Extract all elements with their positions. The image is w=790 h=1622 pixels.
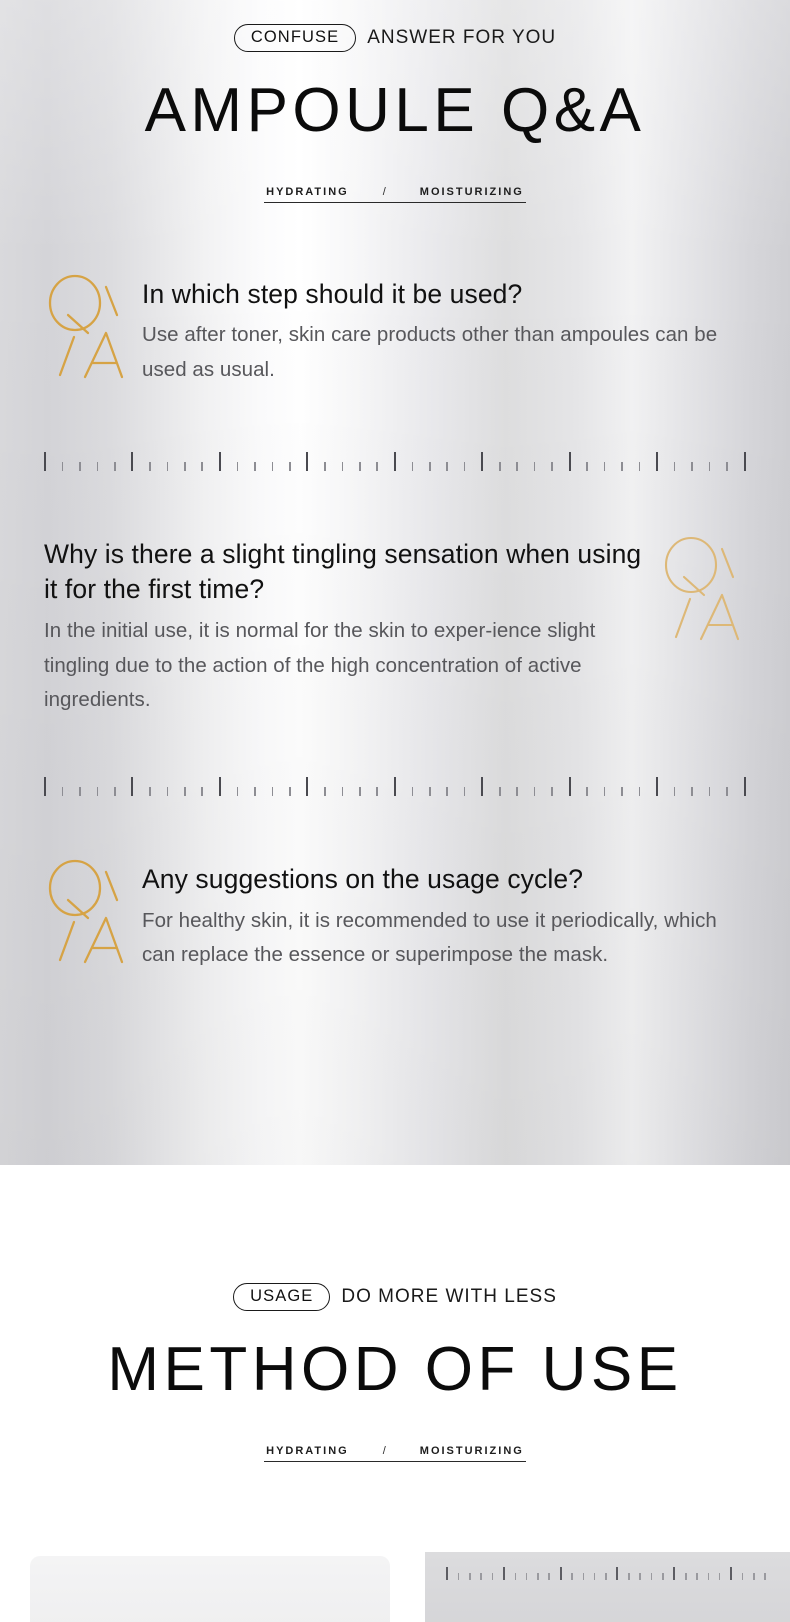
- qa-item-2: Why is there a slight tingling sensation…: [0, 533, 790, 717]
- ruler-tick: [149, 462, 151, 471]
- ruler-tick-major: [503, 1567, 505, 1580]
- ruler-tick: [79, 462, 81, 471]
- ruler-tick: [289, 787, 291, 796]
- ruler-tick-major: [131, 777, 133, 796]
- method-eyebrow-badge: USAGE: [233, 1283, 330, 1311]
- ruler-tick: [604, 462, 606, 471]
- ruler-tick: [709, 787, 711, 796]
- ruler-tick: [464, 462, 466, 471]
- ruler-tick: [639, 462, 641, 471]
- ruler-tick: [548, 1573, 550, 1580]
- ruler-tick-major: [656, 452, 658, 471]
- ruler-tick: [412, 787, 414, 796]
- ruler-tick: [753, 1573, 755, 1580]
- ruler-tick: [551, 787, 553, 796]
- ruler-tick-major: [394, 452, 396, 471]
- ruler-tick: [359, 787, 361, 796]
- ruler-tick: [167, 462, 169, 471]
- ruler-tick: [605, 1573, 607, 1580]
- ruler-tick-major: [569, 777, 571, 796]
- ruler-tick-major: [306, 452, 308, 471]
- method-eyebrow-text: DO MORE WITH LESS: [341, 1286, 556, 1308]
- ruler-tick: [594, 1573, 596, 1580]
- ruler-tick: [458, 1573, 460, 1580]
- ruler-tick: [480, 1573, 482, 1580]
- qa-page-title: AMPOULE Q&A: [0, 80, 790, 142]
- ampoule-qa-section: CONFUSE ANSWER FOR YOU AMPOULE Q&A HYDRA…: [0, 0, 790, 1165]
- ruler-tick: [685, 1573, 687, 1580]
- ruler-tick-major: [560, 1567, 562, 1580]
- ruler-tick-major: [44, 452, 46, 471]
- ruler-tick: [254, 787, 256, 796]
- ruler-tick: [651, 1573, 653, 1580]
- ruler-tick: [254, 462, 256, 471]
- ruler-tick: [499, 462, 501, 471]
- ruler-tick-major: [730, 1567, 732, 1580]
- ruler-tick: [628, 1573, 630, 1580]
- ruler-tick: [709, 462, 711, 471]
- ruler-tick: [324, 462, 326, 471]
- qa-question-2: Why is there a slight tingling sensation…: [44, 537, 654, 607]
- ruler-tick-major: [219, 777, 221, 796]
- ruler-tick-major: [394, 777, 396, 796]
- qa-answer-3: For healthy skin, it is recommended to u…: [142, 904, 746, 973]
- method-of-use-section: USAGE DO MORE WITH LESS METHOD OF USE HY…: [0, 1165, 790, 1622]
- ruler-divider-2: [0, 770, 790, 796]
- ruler-tick: [639, 787, 641, 796]
- ruler-tick: [97, 787, 99, 796]
- qa-method-page: CONFUSE ANSWER FOR YOU AMPOULE Q&A HYDRA…: [0, 0, 790, 1622]
- product-image-strip: [0, 1542, 790, 1622]
- qa-eyebrow-badge: CONFUSE: [234, 24, 356, 52]
- ruler-tick: [621, 462, 623, 471]
- ruler-tick-major: [131, 452, 133, 471]
- ruler-tick: [272, 787, 274, 796]
- qa-monogram-icon: [44, 271, 130, 383]
- method-subtitle: HYDRATING / MOISTURIZING: [0, 1445, 790, 1462]
- ruler-tick: [515, 1573, 517, 1580]
- ruler-tick-major: [44, 777, 46, 796]
- ruler-tick: [586, 462, 588, 471]
- ruler-tick: [586, 787, 588, 796]
- ruler-tick: [359, 462, 361, 471]
- qa-subtitle: HYDRATING / MOISTURIZING: [0, 186, 790, 203]
- ruler-tick: [534, 787, 536, 796]
- product-ruler-ticks: [446, 1564, 766, 1580]
- ruler-tick-major: [481, 452, 483, 471]
- qa-answer-2: In the initial use, it is normal for the…: [44, 614, 654, 717]
- qa-answer-1: Use after toner, skin care products othe…: [142, 318, 746, 387]
- ruler-tick: [674, 787, 676, 796]
- ruler-tick: [114, 462, 116, 471]
- ruler-tick: [708, 1573, 710, 1580]
- ruler-tick: [201, 462, 203, 471]
- ruler-tick: [516, 462, 518, 471]
- ruler-tick: [696, 1573, 698, 1580]
- ruler-tick: [691, 462, 693, 471]
- ruler-tick: [726, 462, 728, 471]
- ruler-tick: [446, 462, 448, 471]
- ruler-tick: [764, 1573, 766, 1580]
- ruler-divider-1: [0, 445, 790, 471]
- qa-item-1: In which step should it be used? Use aft…: [0, 271, 790, 388]
- ruler-tick: [492, 1573, 494, 1580]
- ruler-tick: [604, 787, 606, 796]
- qa-item-3: Any suggestions on the usage cycle? For …: [0, 856, 790, 973]
- product-photo-left: [30, 1556, 390, 1622]
- ruler-tick: [114, 787, 116, 796]
- ruler-tick: [342, 462, 344, 471]
- qa-question-1: In which step should it be used?: [142, 277, 746, 312]
- ruler-tick-major: [744, 777, 746, 796]
- ruler-tick: [184, 787, 186, 796]
- qa-subtitle-right: MOISTURIZING: [420, 186, 524, 198]
- ruler-tick-major: [446, 1567, 448, 1580]
- ruler-tick: [79, 787, 81, 796]
- qa-eyebrow-text: ANSWER FOR YOU: [367, 27, 556, 49]
- ruler-tick-major: [616, 1567, 618, 1580]
- ruler-tick: [691, 787, 693, 796]
- qa-eyebrow: CONFUSE ANSWER FOR YOU: [0, 24, 790, 52]
- ruler-tick: [184, 462, 186, 471]
- ruler-tick: [149, 787, 151, 796]
- ruler-tick: [237, 462, 239, 471]
- ruler-tick-major: [656, 777, 658, 796]
- ruler-tick: [412, 462, 414, 471]
- ruler-tick: [464, 787, 466, 796]
- ruler-tick: [674, 462, 676, 471]
- ruler-tick-major: [673, 1567, 675, 1580]
- ruler-tick: [62, 462, 64, 471]
- ruler-tick: [376, 462, 378, 471]
- method-subtitle-left: HYDRATING: [266, 1445, 349, 1457]
- ruler-tick: [583, 1573, 585, 1580]
- ruler-tick: [571, 1573, 573, 1580]
- ruler-tick: [97, 462, 99, 471]
- ruler-tick: [272, 462, 274, 471]
- ruler-tick: [429, 787, 431, 796]
- ruler-tick: [621, 787, 623, 796]
- ruler-tick: [201, 787, 203, 796]
- ruler-tick-major: [306, 777, 308, 796]
- ruler-tick: [534, 462, 536, 471]
- ruler-tick: [324, 787, 326, 796]
- ruler-tick: [639, 1573, 641, 1580]
- ruler-tick: [551, 462, 553, 471]
- ruler-tick-major: [219, 452, 221, 471]
- ruler-tick: [342, 787, 344, 796]
- ruler-tick-major: [569, 452, 571, 471]
- ruler-tick: [446, 787, 448, 796]
- product-photo-right: [425, 1552, 790, 1622]
- ruler-tick: [726, 787, 728, 796]
- ruler-tick: [742, 1573, 744, 1580]
- ruler-tick: [499, 787, 501, 796]
- ruler-tick: [376, 787, 378, 796]
- qa-monogram-icon: [660, 533, 746, 645]
- qa-question-3: Any suggestions on the usage cycle?: [142, 862, 746, 897]
- qa-subtitle-separator: /: [349, 186, 420, 198]
- ruler-tick: [526, 1573, 528, 1580]
- ruler-tick: [719, 1573, 721, 1580]
- ruler-tick: [469, 1573, 471, 1580]
- ruler-tick-major: [481, 777, 483, 796]
- ruler-tick: [516, 787, 518, 796]
- method-page-title: METHOD OF USE: [0, 1339, 790, 1401]
- ruler-tick: [662, 1573, 664, 1580]
- ruler-tick: [537, 1573, 539, 1580]
- ruler-tick: [237, 787, 239, 796]
- method-subtitle-right: MOISTURIZING: [420, 1445, 524, 1457]
- ruler-tick-major: [744, 452, 746, 471]
- ruler-tick: [289, 462, 291, 471]
- ruler-tick: [167, 787, 169, 796]
- qa-monogram-icon: [44, 856, 130, 968]
- qa-subtitle-left: HYDRATING: [266, 186, 349, 198]
- ruler-tick: [62, 787, 64, 796]
- method-eyebrow: USAGE DO MORE WITH LESS: [0, 1283, 790, 1311]
- method-subtitle-separator: /: [349, 1445, 420, 1457]
- ruler-tick: [429, 462, 431, 471]
